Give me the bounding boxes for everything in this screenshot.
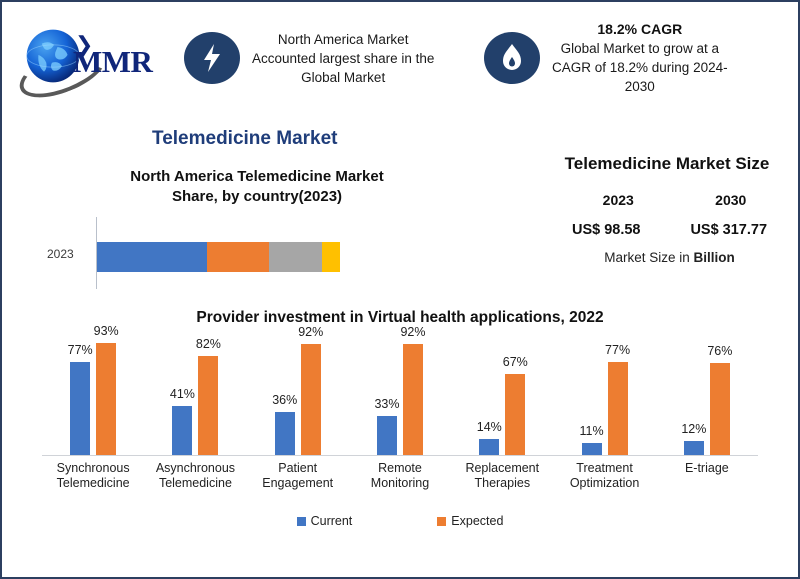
bar-group: 36%92% — [247, 334, 349, 456]
kpi1-line2: Accounted largest share in the — [252, 49, 434, 68]
bar-value-label: 92% — [400, 325, 425, 339]
kpi1-line3: Global Market — [252, 68, 434, 87]
x-axis-label-line: Treatment — [553, 461, 655, 476]
bar-current: 11% — [582, 443, 602, 456]
bar-group: 14%67% — [451, 334, 553, 456]
x-axis-label: RemoteMonitoring — [349, 461, 451, 491]
bar-current: 33% — [377, 416, 397, 456]
flame-icon — [484, 32, 540, 84]
market-size-title: Telemedicine Market Size — [542, 154, 792, 174]
bar-group: 33%92% — [349, 334, 451, 456]
x-axis-label-line: E-triage — [656, 461, 758, 476]
x-axis-label-line: Engagement — [247, 476, 349, 491]
x-axis-label-line: Asynchronous — [144, 461, 246, 476]
kpi2-line1: Global Market to grow at a — [552, 39, 728, 58]
bar-value-label: 82% — [196, 337, 221, 351]
bar-group: 77%93% — [42, 334, 144, 456]
bar-current: 36% — [275, 412, 295, 456]
bar-value-label: 11% — [580, 424, 604, 438]
share-segment-2 — [207, 242, 269, 272]
bar-value-label: 92% — [298, 325, 323, 339]
share-segment-4 — [322, 242, 340, 272]
bar-value-label: 93% — [94, 324, 119, 338]
x-axis-label-line: Remote — [349, 461, 451, 476]
kpi2-headline: 18.2% CAGR — [552, 20, 728, 39]
bar-group: 12%76% — [656, 334, 758, 456]
kpi1-line1: North America Market — [252, 30, 434, 49]
x-axis-label-line: Telemedicine — [144, 476, 246, 491]
legend-label: Current — [311, 514, 353, 528]
x-axis-label-line: Synchronous — [42, 461, 144, 476]
page-title: Telemedicine Market — [152, 128, 338, 150]
share-segment-3 — [269, 242, 322, 272]
kpi-cagr: 18.2% CAGR Global Market to grow at a CA… — [484, 20, 794, 96]
market-size-values: US$ 98.58 US$ 317.77 — [547, 222, 792, 238]
bar-current: 14% — [479, 439, 499, 456]
share-segment-1 — [97, 242, 207, 272]
x-axis-label: PatientEngagement — [247, 461, 349, 491]
market-size-value-2: US$ 317.77 — [690, 222, 767, 238]
bar-expected: 77% — [608, 362, 628, 456]
bar-value-label: 77% — [68, 343, 93, 357]
market-size-year-1: 2023 — [603, 192, 634, 208]
legend-label: Expected — [451, 514, 503, 528]
kpi2-line3: 2030 — [552, 77, 728, 96]
bar-current: 12% — [684, 441, 704, 456]
x-axis-label-line: Telemedicine — [42, 476, 144, 491]
bar-value-label: 77% — [605, 343, 630, 357]
share-title-line1: North America Telemedicine Market — [97, 167, 417, 187]
legend-item-current[interactable]: Current — [297, 514, 353, 528]
brand-logo: ❯ MMR — [2, 22, 184, 94]
bar-chart-legend: CurrentExpected — [2, 514, 798, 528]
x-axis-label: SynchronousTelemedicine — [42, 461, 144, 491]
market-size-footnote: Market Size in Billion — [547, 250, 792, 265]
infographic-frame: ❯ MMR North America Market Accounted lar… — [0, 0, 800, 579]
x-axis-label: ReplacementTherapies — [451, 461, 553, 491]
bar-chart-plot: 77%93%41%82%36%92%33%92%14%67%11%77%12%7… — [42, 334, 758, 456]
x-axis-label-line: Patient — [247, 461, 349, 476]
lightning-bolt-icon — [184, 32, 240, 84]
bar-value-label: 12% — [681, 422, 706, 436]
bar-value-label: 41% — [170, 387, 195, 401]
bar-group: 41%82% — [144, 334, 246, 456]
x-axis-label-line: Optimization — [553, 476, 655, 491]
share-title-line2: Share, by country(2023) — [97, 187, 417, 207]
bar-current: 77% — [70, 362, 90, 456]
market-size-footnote-prefix: Market Size in — [604, 250, 693, 265]
market-size-value-1: US$ 98.58 — [572, 222, 641, 238]
legend-swatch — [297, 517, 306, 526]
bar-value-label: 33% — [374, 397, 399, 411]
legend-item-expected[interactable]: Expected — [437, 514, 503, 528]
header-bar: ❯ MMR North America Market Accounted lar… — [2, 2, 798, 114]
bar-expected: 67% — [505, 374, 525, 456]
market-size-year-2: 2030 — [715, 192, 746, 208]
share-chart-title: North America Telemedicine Market Share,… — [97, 167, 417, 207]
x-axis-label: AsynchronousTelemedicine — [144, 461, 246, 491]
bar-expected: 82% — [198, 356, 218, 456]
market-size-years: 2023 2030 — [562, 192, 787, 208]
bar-expected: 93% — [96, 343, 116, 456]
x-axis-label: E-triage — [656, 461, 758, 476]
x-axis-label-line: Therapies — [451, 476, 553, 491]
bar-value-label: 67% — [503, 355, 528, 369]
bar-expected: 76% — [710, 363, 730, 456]
bar-expected: 92% — [403, 344, 423, 456]
bar-chart-baseline — [42, 455, 758, 456]
x-axis-label-line: Monitoring — [349, 476, 451, 491]
bar-expected: 92% — [301, 344, 321, 456]
x-axis-label: TreatmentOptimization — [553, 461, 655, 491]
kpi2-line2: CAGR of 18.2% during 2024- — [552, 58, 728, 77]
bar-value-label: 76% — [707, 344, 732, 358]
bar-value-label: 36% — [272, 393, 297, 407]
bar-current: 41% — [172, 406, 192, 456]
x-axis-label-line: Replacement — [451, 461, 553, 476]
share-stacked-bar — [97, 242, 340, 272]
market-size-unit: Billion — [694, 250, 735, 265]
bar-group: 11%77% — [553, 334, 655, 456]
logo-text: MMR — [73, 44, 152, 80]
share-axis-label: 2023 — [47, 247, 74, 261]
kpi-north-america: North America Market Accounted largest s… — [184, 30, 484, 87]
legend-swatch — [437, 517, 446, 526]
bar-value-label: 14% — [477, 420, 502, 434]
